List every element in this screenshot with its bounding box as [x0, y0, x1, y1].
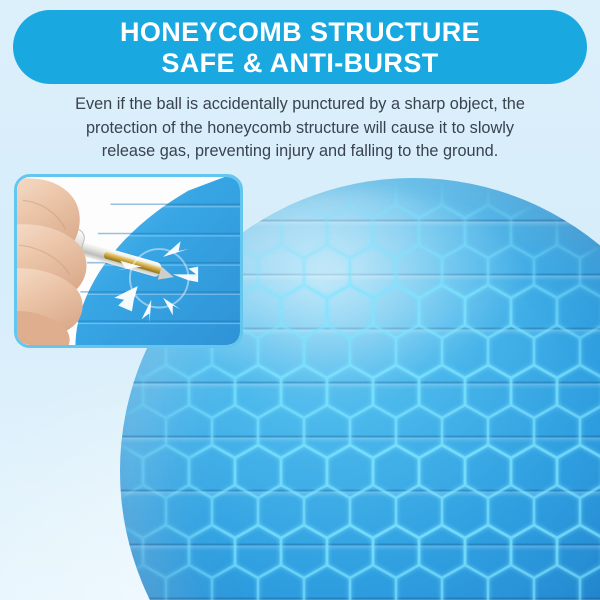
hand-icon: [17, 178, 86, 346]
header-banner: HONEYCOMB STRUCTURE SAFE & ANTI-BURST: [13, 10, 587, 84]
inset-illustration: [17, 177, 240, 346]
description-line-3: release gas, preventing injury and falli…: [28, 140, 572, 164]
description-line-1: Even if the ball is accidentally punctur…: [28, 93, 572, 117]
description-line-2: protection of the honeycomb structure wi…: [28, 117, 572, 141]
banner-title-line-2: SAFE & ANTI-BURST: [161, 48, 438, 79]
description-paragraph: Even if the ball is accidentally punctur…: [28, 93, 572, 164]
puncture-demo-photo: [14, 174, 243, 348]
banner-title-line-1: HONEYCOMB STRUCTURE: [120, 17, 480, 48]
infographic-canvas: HONEYCOMB STRUCTURE SAFE & ANTI-BURST Ev…: [0, 0, 600, 600]
